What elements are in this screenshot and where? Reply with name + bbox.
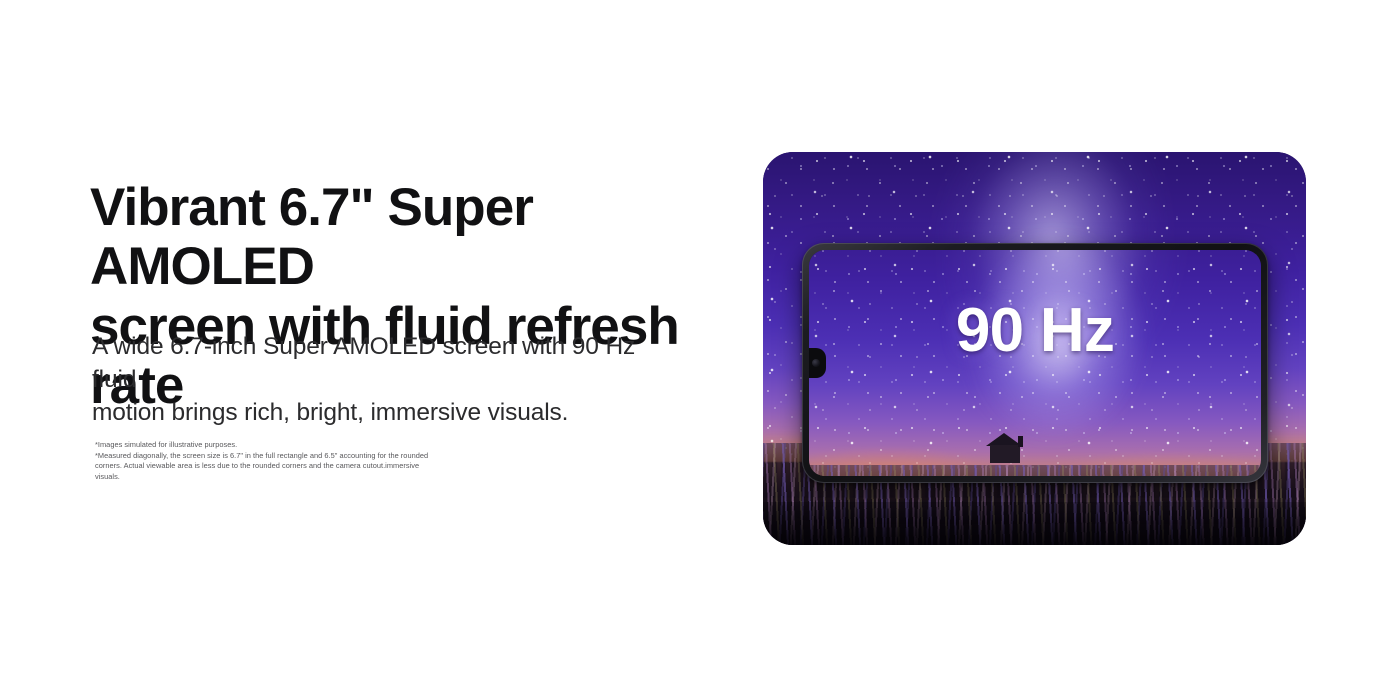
screen-lupine-field bbox=[809, 465, 1261, 476]
feature-description: A wide 6.7-inch Super AMOLED screen with… bbox=[92, 330, 682, 429]
screen-church-silhouette bbox=[982, 433, 1036, 463]
screen-church-tower bbox=[1018, 436, 1023, 447]
legal-disclaimer: *Images simulated for illustrative purpo… bbox=[95, 440, 435, 482]
camera-lens-icon bbox=[812, 359, 820, 367]
smartphone-device: 90 Hz bbox=[802, 243, 1268, 483]
refresh-rate-badge: 90 Hz bbox=[809, 300, 1261, 362]
disclaimer-line-2: *Measured diagonally, the screen size is… bbox=[95, 451, 435, 483]
disclaimer-line-1: *Images simulated for illustrative purpo… bbox=[95, 440, 435, 451]
phone-hero-image: 90 Hz bbox=[763, 152, 1306, 545]
feature-copy-block: Vibrant 6.7" Super AMOLED screen with fl… bbox=[90, 178, 730, 415]
screen-church-body bbox=[990, 445, 1020, 463]
phone-screen: 90 Hz bbox=[809, 250, 1261, 476]
foreground-shadow bbox=[763, 502, 1306, 545]
front-camera-notch bbox=[809, 348, 826, 378]
